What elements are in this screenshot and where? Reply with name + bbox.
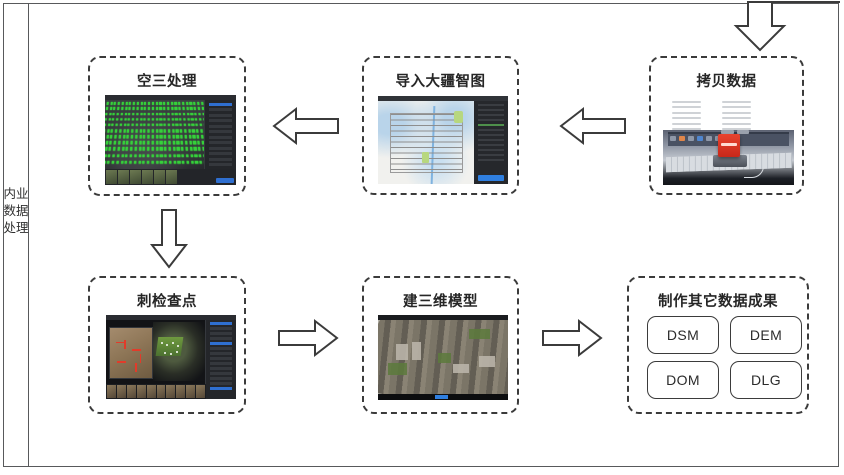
card-aerotriangulation[interactable]: 空三处理 [88, 56, 246, 196]
thumbnail-aerotriangulation [105, 95, 236, 185]
card-title-aerotriangulation: 空三处理 [90, 70, 244, 91]
product-chip-dom[interactable]: DOM [647, 361, 719, 399]
side-label-line-3: 处理 [3, 219, 29, 236]
side-label-line-2: 数据 [3, 202, 29, 219]
thumbnail-3d-model [378, 315, 508, 400]
progress-bar [435, 395, 448, 399]
card-copy-data[interactable]: 拷贝数据 [649, 56, 804, 195]
green-patch [156, 337, 184, 356]
card-title-copy-data: 拷贝数据 [651, 70, 802, 91]
card-other-products[interactable]: 制作其它数据成果 DSM DEM DOM DLG [627, 276, 809, 414]
green-area-2 [422, 152, 429, 163]
document-lines [663, 96, 794, 130]
card-title-other-products: 制作其它数据成果 [629, 290, 807, 311]
arrow-copy-to-import [559, 105, 627, 147]
thumbnail-copy-data [663, 96, 794, 185]
confirm-button [478, 175, 504, 181]
red-ssd-drive [718, 134, 740, 157]
workflow-diagram-canvas: 内业 数据 处理 拷贝数据 [0, 0, 844, 475]
arrow-model-to-products [541, 318, 603, 358]
product-chip-dem[interactable]: DEM [730, 316, 802, 354]
photo-tabs [721, 130, 750, 133]
arrow-aero-to-checkpoints [148, 207, 190, 269]
arrow-checkpoints-to-model [277, 318, 339, 358]
right-panel [204, 100, 236, 169]
side-label-line-1: 内业 [3, 185, 29, 202]
arrow-into-copy-data [700, 0, 840, 54]
product-chip-dlg[interactable]: DLG [730, 361, 802, 399]
arrow-import-to-aero [272, 105, 340, 147]
usb-cable [744, 164, 763, 178]
card-title-check-points: 刺检查点 [90, 290, 244, 311]
thumbnail-strip [106, 384, 206, 399]
thumbnail-check-points [106, 315, 236, 399]
card-import-dji-terra[interactable]: 导入大疆智图 [362, 56, 519, 195]
image-view-panel [109, 327, 154, 379]
side-label-interior-data-processing: 内业 数据 处理 [3, 185, 29, 236]
3d-viewport [105, 100, 205, 169]
right-panel [205, 320, 236, 399]
thumbnail-dji-terra [378, 96, 508, 184]
submit-button [216, 178, 234, 183]
camera-pose-grid [105, 101, 212, 166]
map-canvas [378, 101, 474, 184]
laptop-photo [663, 130, 794, 185]
point-cloud-view [153, 322, 205, 381]
product-chip-dsm[interactable]: DSM [647, 316, 719, 354]
flight-route-grid [390, 113, 463, 173]
card-title-build-3d-model: 建三维模型 [364, 290, 517, 311]
mesh-viewport [378, 320, 508, 394]
right-panel [474, 101, 508, 184]
green-area-1 [454, 111, 463, 123]
card-build-3d-model[interactable]: 建三维模型 [362, 276, 519, 414]
card-title-import-dji-terra: 导入大疆智图 [364, 70, 517, 91]
card-check-points[interactable]: 刺检查点 [88, 276, 246, 414]
